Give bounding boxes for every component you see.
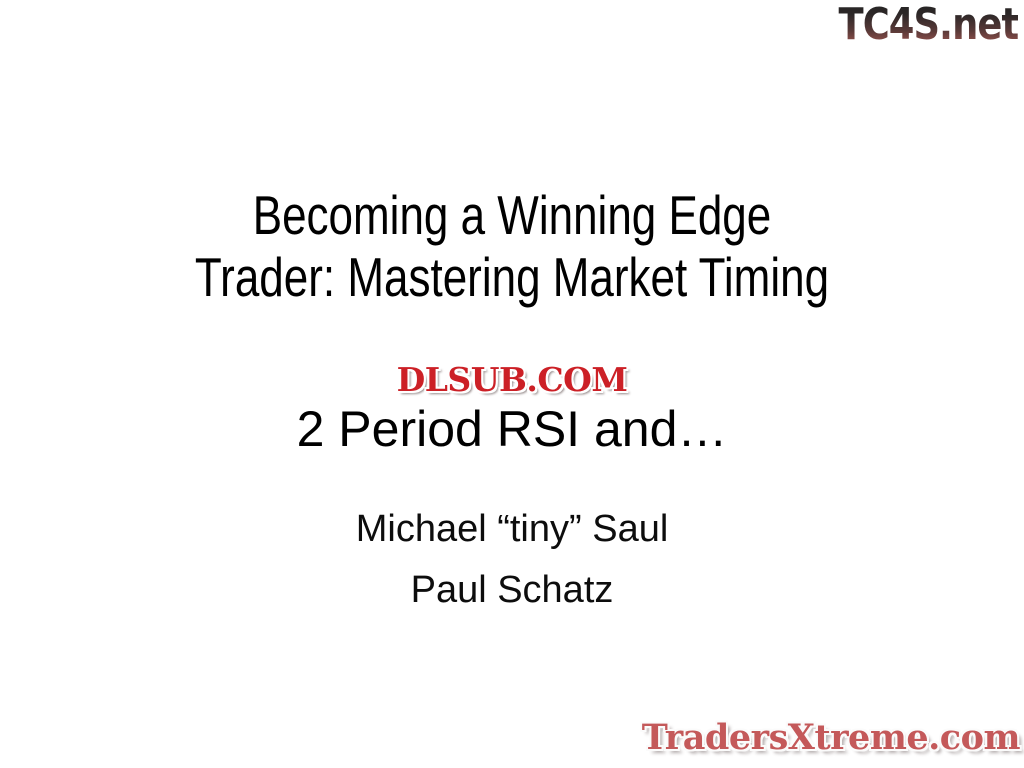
title-line-1: Becoming a Winning Edge [102, 184, 921, 246]
tc4s-watermark: TC4S.net [838, 0, 1018, 50]
slide-subtitle: 2 Period RSI and… [0, 400, 1024, 458]
presenter-list: Michael “tiny” Saul Paul Schatz [0, 499, 1024, 621]
presenter-name-2: Paul Schatz [0, 560, 1024, 621]
presentation-slide: TC4S.net Becoming a Winning Edge Trader:… [0, 0, 1024, 768]
dlsub-watermark: DLSUB.COM [397, 361, 628, 399]
presenter-name-1: Michael “tiny” Saul [0, 499, 1024, 560]
tradersxtreme-watermark: TradersXtreme.com [642, 716, 1020, 760]
title-line-2: Trader: Mastering Market Timing [102, 246, 921, 308]
page-title: Becoming a Winning Edge Trader: Masterin… [0, 184, 1024, 308]
